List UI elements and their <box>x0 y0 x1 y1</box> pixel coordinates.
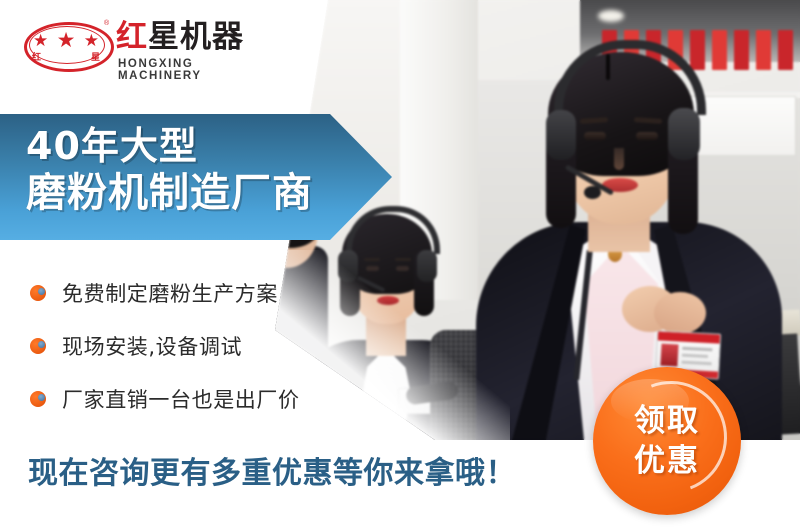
advertisement-banner: ★ ★ ★ 红 星 ® 红星机器 HONGXING MACHINERY 40年大… <box>0 0 800 530</box>
brand-name-en: HONGXING MACHINERY <box>118 58 254 82</box>
brand-name-cn: 红星机器 <box>116 20 244 54</box>
list-item-label: 免费制定磨粉生产方案 <box>62 278 278 308</box>
star-icon: ★ <box>57 30 76 51</box>
headline-banner: 40年大型 磨粉机制造厂商 <box>0 114 392 240</box>
feature-list: 免费制定磨粉生产方案 现场安装,设备调试 厂家直销一台也是出厂价 <box>30 266 370 425</box>
list-item: 免费制定磨粉生产方案 <box>30 266 370 319</box>
logo-three-stars: ★ ★ ★ <box>33 31 99 50</box>
star-icon: ★ <box>84 32 99 49</box>
logo-emblem-char-left: 红 <box>32 50 41 63</box>
cta-label-line-2: 优惠 <box>634 441 700 481</box>
company-logo[interactable]: ★ ★ ★ 红 星 ® 红星机器 HONGXING MACHINERY <box>24 18 254 80</box>
brand-name-cn-first-char: 红 <box>116 19 148 55</box>
list-item: 厂家直销一台也是出厂价 <box>30 372 370 425</box>
logo-emblem-characters: 红 星 <box>32 50 100 63</box>
bullet-dot-icon <box>30 391 46 407</box>
registered-trademark-icon: ® <box>104 20 109 27</box>
promo-footer-text: 现在咨询更有多重优惠等你来拿哦！ <box>28 448 516 492</box>
bullet-dot-icon <box>30 285 46 301</box>
claim-discount-button[interactable]: 领取 优惠 <box>593 367 741 515</box>
headline-line-2: 磨粉机制造厂商 <box>26 170 313 216</box>
bullet-dot-icon <box>30 338 46 354</box>
list-item-label: 厂家直销一台也是出厂价 <box>62 384 300 414</box>
brand-name-cn-rest: 星机器 <box>148 19 244 55</box>
list-item-label: 现场安装,设备调试 <box>62 331 242 361</box>
star-icon: ★ <box>33 32 48 49</box>
cta-label-line-1: 领取 <box>634 401 700 441</box>
headline-line-1: 40年大型 <box>26 124 198 168</box>
list-item: 现场安装,设备调试 <box>30 319 370 372</box>
logo-emblem-char-right: 星 <box>91 50 100 63</box>
